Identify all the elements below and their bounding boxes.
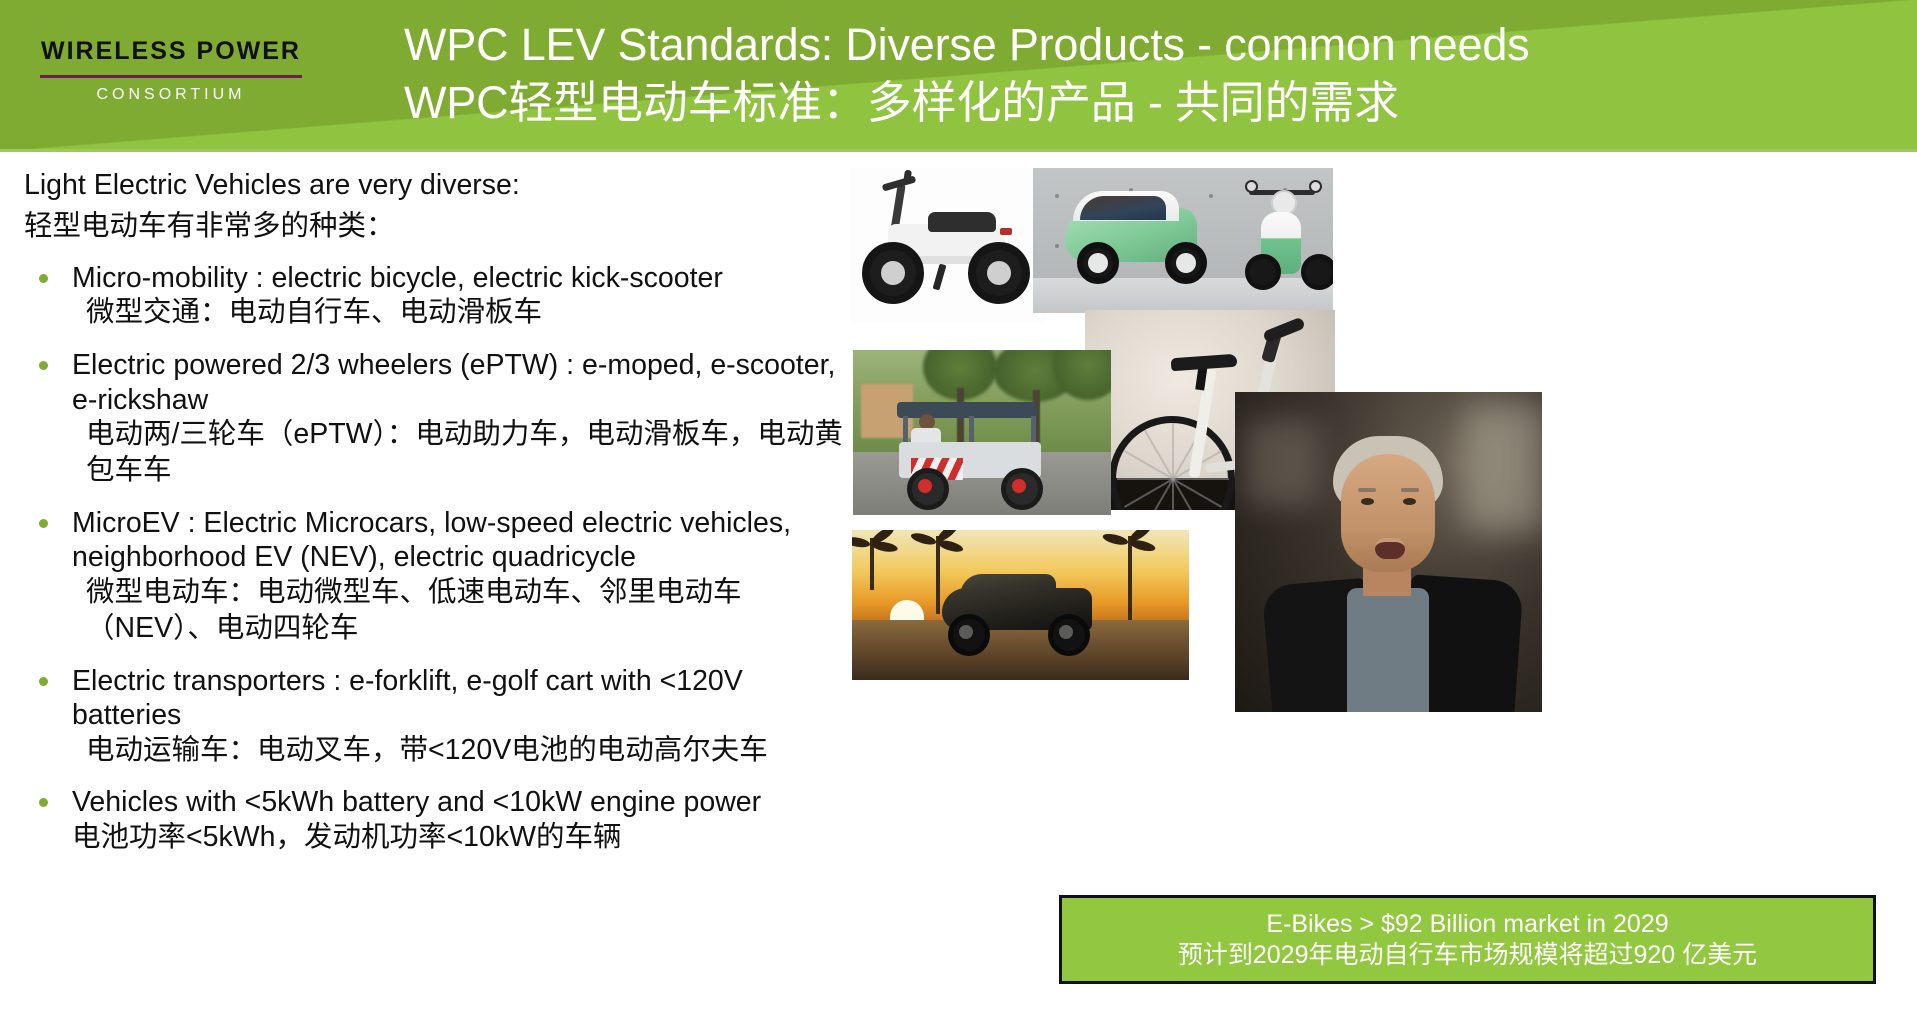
microcar-front-wheel — [1077, 242, 1119, 284]
slide-title-block: WPC LEV Standards: Diverse Products - co… — [404, 16, 1904, 131]
logo-wordmark-bottom: CONSORTIUM — [36, 86, 306, 104]
presenter-eyebrow-right — [1401, 488, 1419, 492]
list-item: Electric transporters : e-forklift, e-go… — [24, 664, 854, 769]
bullet-dot-icon — [39, 677, 48, 686]
wall-bolt-dot — [1055, 244, 1059, 248]
presenter-eye-right — [1403, 498, 1416, 505]
rickshaw-canopy — [897, 402, 1037, 418]
scooter-wheel-right — [1301, 254, 1333, 290]
trike-rear-wheel — [1048, 614, 1090, 656]
scooter-wheel-left — [1245, 254, 1281, 290]
rickshaw-rear-wheel — [1001, 468, 1043, 510]
palm-trunk — [1128, 536, 1132, 620]
bullet-english: MicroEV : Electric Microcars, low-speed … — [72, 506, 854, 575]
bullet-dot-icon — [39, 274, 48, 283]
list-item: MicroEV : Electric Microcars, low-speed … — [24, 506, 854, 647]
bullet-dot-icon — [39, 361, 48, 370]
rickshaw-front-wheel — [907, 468, 949, 510]
green-microcar-photo — [1033, 168, 1333, 313]
trike-front-wheel — [948, 614, 990, 656]
bullet-list: Micro-mobility : electric bicycle, elect… — [24, 261, 854, 856]
bullet-english: Vehicles with <5kWh battery and <10kW en… — [72, 785, 854, 819]
logo-wordmark-top: WIRELESS POWER — [36, 38, 306, 66]
bullet-chinese: 电动运输车：电动叉车，带<120V电池的电动高尔夫车 — [72, 733, 854, 769]
bullet-english: Electric powered 2/3 wheelers (ePTW) : e… — [72, 348, 854, 417]
list-item: Electric powered 2/3 wheelers (ePTW) : e… — [24, 348, 854, 489]
scooter-mirror-left — [1245, 180, 1258, 193]
moped-front-wheel — [862, 242, 924, 304]
logo-divider-rule — [40, 75, 302, 78]
wpc-logo: WIRELESS POWER CONSORTIUM — [36, 38, 306, 104]
wall-bolt-dot — [1209, 194, 1213, 198]
list-item: Micro-mobility : electric bicycle, elect… — [24, 261, 854, 331]
bullet-english: Micro-mobility : electric bicycle, elect… — [72, 261, 854, 295]
image-collage — [850, 160, 1917, 880]
electric-trike-sunset-photo — [852, 530, 1189, 680]
market-callout-box: E-Bikes > $92 Billion market in 2029 预计到… — [1059, 895, 1876, 984]
presenter-eyebrow-left — [1358, 488, 1376, 492]
electric-rickshaw-photo — [853, 350, 1111, 515]
wheel-spoke — [1172, 423, 1174, 510]
palm-trunk — [936, 536, 940, 614]
header-underline — [0, 149, 1917, 152]
microcar-rear-wheel — [1165, 242, 1207, 284]
bullet-chinese: 电池功率<5kWh，发动机功率<10kW的车辆 — [72, 820, 854, 856]
slide-title-english: WPC LEV Standards: Diverse Products - co… — [404, 16, 1904, 74]
moped-taillight — [1000, 228, 1012, 235]
slide-header: WIRELESS POWER CONSORTIUM WPC LEV Standa… — [0, 0, 1917, 152]
bullet-dot-icon — [39, 798, 48, 807]
presenter-eye-left — [1361, 498, 1374, 505]
background-blur-left — [1245, 420, 1319, 506]
presenter-mouth — [1375, 538, 1405, 559]
moped-rear-wheel — [968, 242, 1030, 304]
bullet-chinese: 电动两/三轮车（ePTW）：电动助力车，电动滑板车，电动黄包车车 — [72, 417, 854, 489]
scooter-mirror-right — [1309, 180, 1322, 193]
microcar-windshield — [1080, 196, 1166, 220]
wall-bolt-dot — [1055, 194, 1059, 198]
slide-title-chinese: WPC轻型电动车标准：多样化的产品 - 共同的需求 — [404, 74, 1904, 132]
bullet-chinese: 微型交通：电动自行车、电动滑板车 — [72, 295, 854, 331]
bullet-english: Electric transporters : e-forklift, e-go… — [72, 664, 854, 733]
bullet-dot-icon — [39, 519, 48, 528]
intro-line-chinese: 轻型电动车有非常多的种类： — [24, 206, 854, 247]
callout-text-chinese: 预计到2029年电动自行车市场规模将超过920 亿美元 — [1178, 940, 1757, 971]
presenter-webcam[interactable] — [1235, 392, 1542, 712]
list-item: Vehicles with <5kWh battery and <10kW en… — [24, 785, 854, 855]
electric-moped-photo — [850, 168, 1046, 323]
intro-line-english: Light Electric Vehicles are very diverse… — [24, 165, 854, 206]
slide-body-text: Light Electric Vehicles are very diverse… — [24, 165, 854, 873]
moped-kickstand — [933, 264, 947, 291]
moped-seat — [928, 212, 996, 232]
bullet-chinese: 微型电动车：电动微型车、低速电动车、邻里电动车（NEV）、电动四轮车 — [72, 575, 854, 647]
presenter-shirt — [1347, 588, 1429, 712]
callout-text-english: E-Bikes > $92 Billion market in 2029 — [1266, 909, 1668, 940]
background-blur-right — [1463, 402, 1542, 532]
